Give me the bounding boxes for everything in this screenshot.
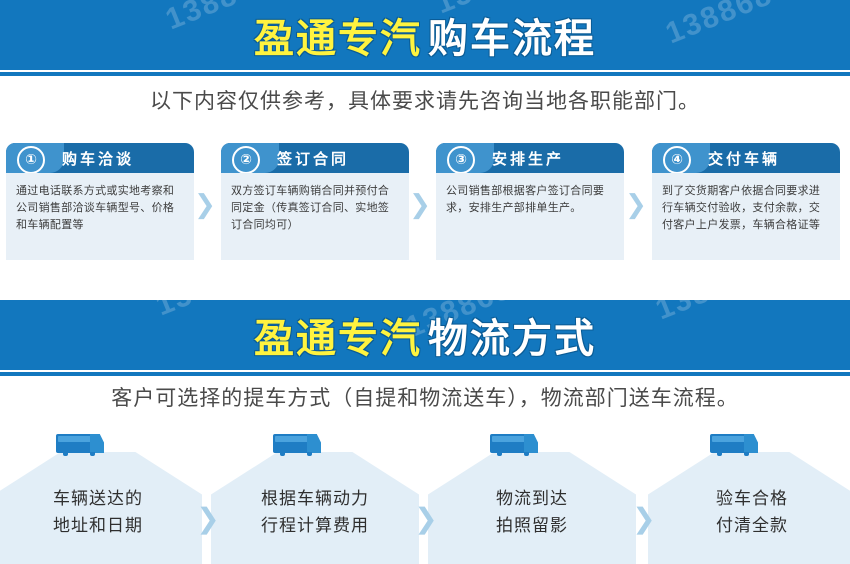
purchase-banner-title: 盈通专汽 购车流程 [0, 0, 850, 70]
logistics-cards: 车辆送达的 地址和日期 根据车辆动力 行程计算费用 [0, 430, 850, 564]
truck-top-stripe [58, 436, 91, 442]
logistics-card-text: 验车合格 付清全款 [648, 486, 850, 540]
step-card-1: ① 购车洽谈 通过电话联系方式或实地考察和公司销售部洽谈车辆型号、价格和车辆配置… [6, 143, 194, 260]
truck-wheel [90, 452, 95, 456]
truck-cab-part [744, 434, 758, 453]
brand-name: 盈通专汽 [254, 6, 422, 64]
truck-wheel [63, 452, 68, 456]
truck-wheel [717, 452, 722, 456]
logistics-card-line1: 根据车辆动力 [211, 486, 419, 513]
step-body-text: 到了交货期客户依据合同要求进行车辆交付验收，支付余款，交付客户上户发票，车辆合格… [652, 173, 840, 260]
logistics-banner-title: 盈通专汽 物流方式 [0, 300, 850, 370]
purchase-banner: 13886852428 13886852428 13886852428 1388… [0, 0, 850, 70]
logistics-card-line2: 地址和日期 [0, 513, 202, 540]
truck-wheel [497, 452, 502, 456]
logistics-card-text: 根据车辆动力 行程计算费用 [211, 486, 419, 540]
truck-cab-part [524, 434, 538, 453]
brand-name: 盈通专汽 [254, 306, 422, 364]
logistics-card-line1: 验车合格 [648, 486, 850, 513]
banner-title-text: 物流方式 [428, 306, 596, 364]
step-number-badge: ① [17, 146, 45, 173]
chevron-right-icon: ❯ [409, 192, 431, 218]
truck-icon [710, 432, 762, 458]
purchase-banner-underline [0, 72, 850, 76]
chevron-right-icon: ❯ [196, 505, 220, 533]
logistics-card-line1: 物流到达 [428, 486, 636, 513]
logistics-card-3: 物流到达 拍照留影 [428, 430, 636, 564]
chevron-right-icon: ❯ [632, 505, 656, 533]
logistics-card-line2: 行程计算费用 [211, 513, 419, 540]
logistics-card-line2: 拍照留影 [428, 513, 636, 540]
truck-icon [490, 432, 542, 458]
logistics-banner: 13886852428 13886852428 13886852428 1388… [0, 300, 850, 370]
logistics-card-text: 车辆送达的 地址和日期 [0, 486, 202, 540]
logistics-banner-underline [0, 372, 850, 376]
truck-wheel [307, 452, 312, 456]
step-title: 交付车辆 [708, 143, 780, 173]
purchase-subtitle: 以下内容仅供参考，具体要求请先咨询当地各职能部门。 [0, 85, 850, 115]
step-number-badge: ③ [447, 146, 475, 173]
logistics-card-1: 车辆送达的 地址和日期 [0, 430, 202, 564]
step-title: 购车洽谈 [62, 143, 134, 173]
logistics-card-line2: 付清全款 [648, 513, 850, 540]
step-body-text: 通过电话联系方式或实地考察和公司销售部洽谈车辆型号、价格和车辆配置等 [6, 173, 194, 260]
logistics-card-4: 验车合格 付清全款 [648, 430, 850, 564]
step-card-3: ③ 安排生产 公司销售部根据客户签订合同要求，安排生产部排单生产。 [436, 143, 624, 260]
logistics-card-text: 物流到达 拍照留影 [428, 486, 636, 540]
step-title: 安排生产 [492, 143, 564, 173]
logistics-subtitle: 客户可选择的提车方式（自提和物流送车），物流部门送车流程。 [0, 382, 850, 412]
step-header: ③ 安排生产 [436, 143, 624, 173]
step-header: ④ 交付车辆 [652, 143, 840, 173]
step-number-badge: ④ [663, 146, 691, 173]
truck-cab-part [90, 434, 104, 453]
step-body-text: 双方签订车辆购销合同并预付合同定金（传真签订合同、实地签订合同均可） [221, 173, 409, 260]
truck-wheel [744, 452, 749, 456]
truck-icon [273, 432, 325, 458]
infographic-page: 13886852428 13886852428 13886852428 1388… [0, 0, 850, 564]
chevron-right-icon: ❯ [414, 505, 438, 533]
truck-icon [56, 432, 108, 458]
step-card-2: ② 签订合同 双方签订车辆购销合同并预付合同定金（传真签订合同、实地签订合同均可… [221, 143, 409, 260]
truck-top-stripe [492, 436, 525, 442]
chevron-right-icon: ❯ [625, 192, 647, 218]
banner-title-text: 购车流程 [428, 6, 596, 64]
step-title: 签订合同 [277, 143, 349, 173]
step-number-badge: ② [232, 146, 260, 173]
logistics-card-line1: 车辆送达的 [0, 486, 202, 513]
truck-wheel [280, 452, 285, 456]
truck-top-stripe [712, 436, 745, 442]
step-header: ② 签订合同 [221, 143, 409, 173]
chevron-right-icon: ❯ [194, 192, 216, 218]
truck-top-stripe [275, 436, 308, 442]
truck-cab-part [307, 434, 321, 453]
logistics-card-2: 根据车辆动力 行程计算费用 [211, 430, 419, 564]
step-body-text: 公司销售部根据客户签订合同要求，安排生产部排单生产。 [436, 173, 624, 260]
step-card-4: ④ 交付车辆 到了交货期客户依据合同要求进行车辆交付验收，支付余款，交付客户上户… [652, 143, 840, 260]
truck-wheel [524, 452, 529, 456]
step-header: ① 购车洽谈 [6, 143, 194, 173]
